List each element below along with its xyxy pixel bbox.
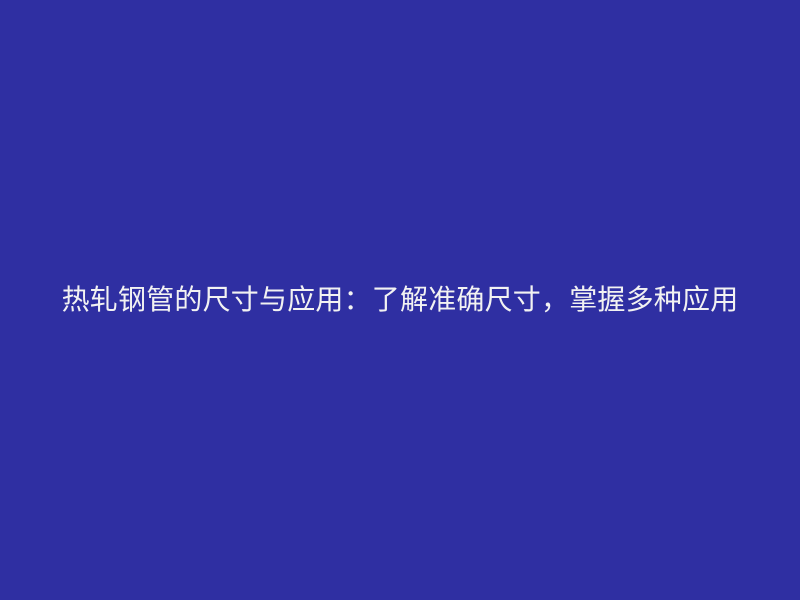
page-title: 热轧钢管的尺寸与应用：了解准确尺寸，掌握多种应用 [55,274,745,326]
title-banner: 热轧钢管的尺寸与应用：了解准确尺寸，掌握多种应用 [0,0,800,600]
title-banner-content: 热轧钢管的尺寸与应用：了解准确尺寸，掌握多种应用 [50,274,750,326]
